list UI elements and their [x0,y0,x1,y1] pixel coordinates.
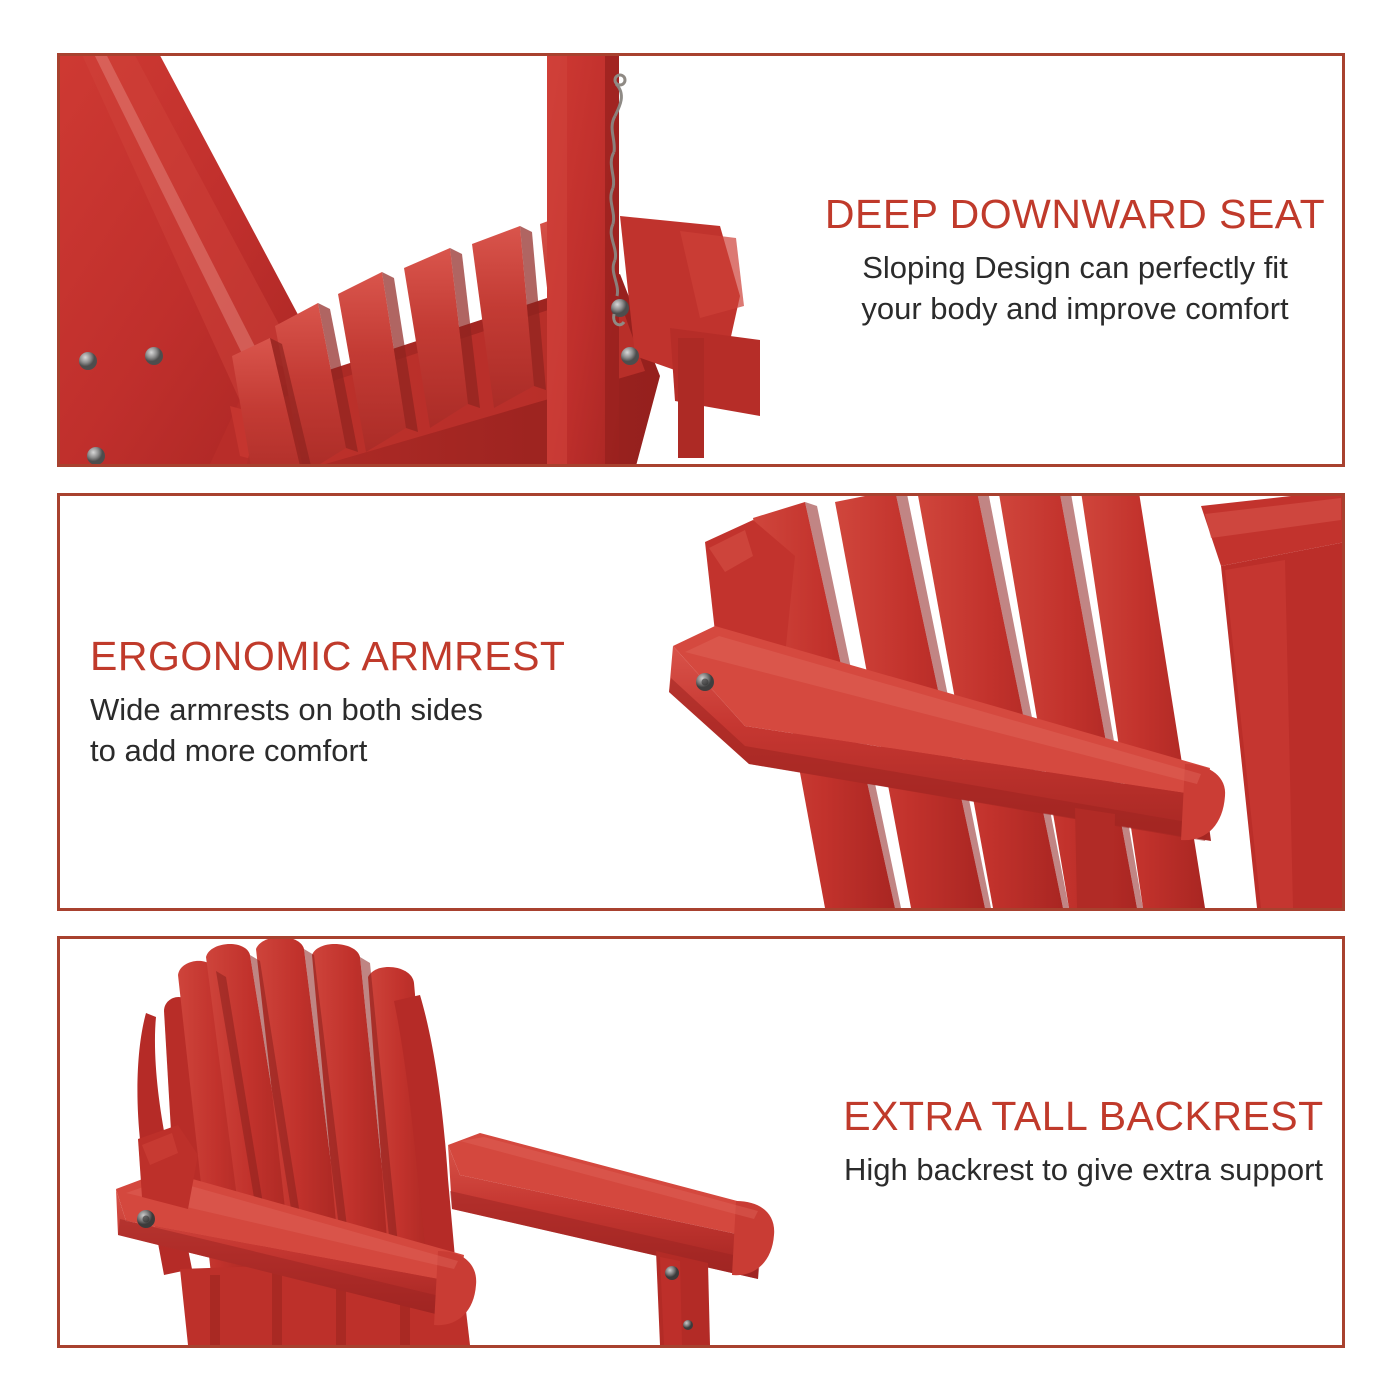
panel-1-body-line-1: Sloping Design can perfectly fit [861,248,1288,289]
panel-2-heading: ERGONOMIC ARMREST [90,633,565,680]
panel-1-heading: DEEP DOWNWARD SEAT [825,191,1325,238]
panel-1-text-block: DEEP DOWNWARD SEAT Sloping Design can pe… [805,56,1345,464]
panel-2-body: Wide armrests on both sides to add more … [90,690,483,772]
tall-backrest-illustration [60,939,820,1345]
seat-slats-photo [60,56,800,464]
feature-panel-ergonomic-armrest: ERGONOMIC ARMREST Wide armrests on both … [57,493,1345,911]
armrest-illustration [645,496,1345,908]
panel-2-text-block: ERGONOMIC ARMREST Wide armrests on both … [90,496,650,908]
panel-2-body-line-1: Wide armrests on both sides [90,690,483,731]
panel-3-heading: EXTRA TALL BACKREST [843,1093,1323,1140]
feature-panel-extra-tall-backrest: EXTRA TALL BACKREST High backrest to giv… [57,936,1345,1348]
panel-1-body-line-2: your body and improve comfort [861,289,1288,330]
panel-1-body: Sloping Design can perfectly fit your bo… [861,248,1288,330]
panel-3-body: High backrest to give extra support [844,1150,1323,1191]
infographic-sheet: DEEP DOWNWARD SEAT Sloping Design can pe… [0,0,1400,1400]
panel-3-body-line-1: High backrest to give extra support [844,1150,1323,1191]
armrest-photo [645,496,1345,908]
feature-panel-deep-downward-seat: DEEP DOWNWARD SEAT Sloping Design can pe… [57,53,1345,467]
panel-3-text-block: EXTRA TALL BACKREST High backrest to giv… [822,939,1345,1345]
tall-backrest-photo [60,939,820,1345]
seat-slats-illustration [60,56,800,464]
panel-2-body-line-2: to add more comfort [90,731,483,772]
